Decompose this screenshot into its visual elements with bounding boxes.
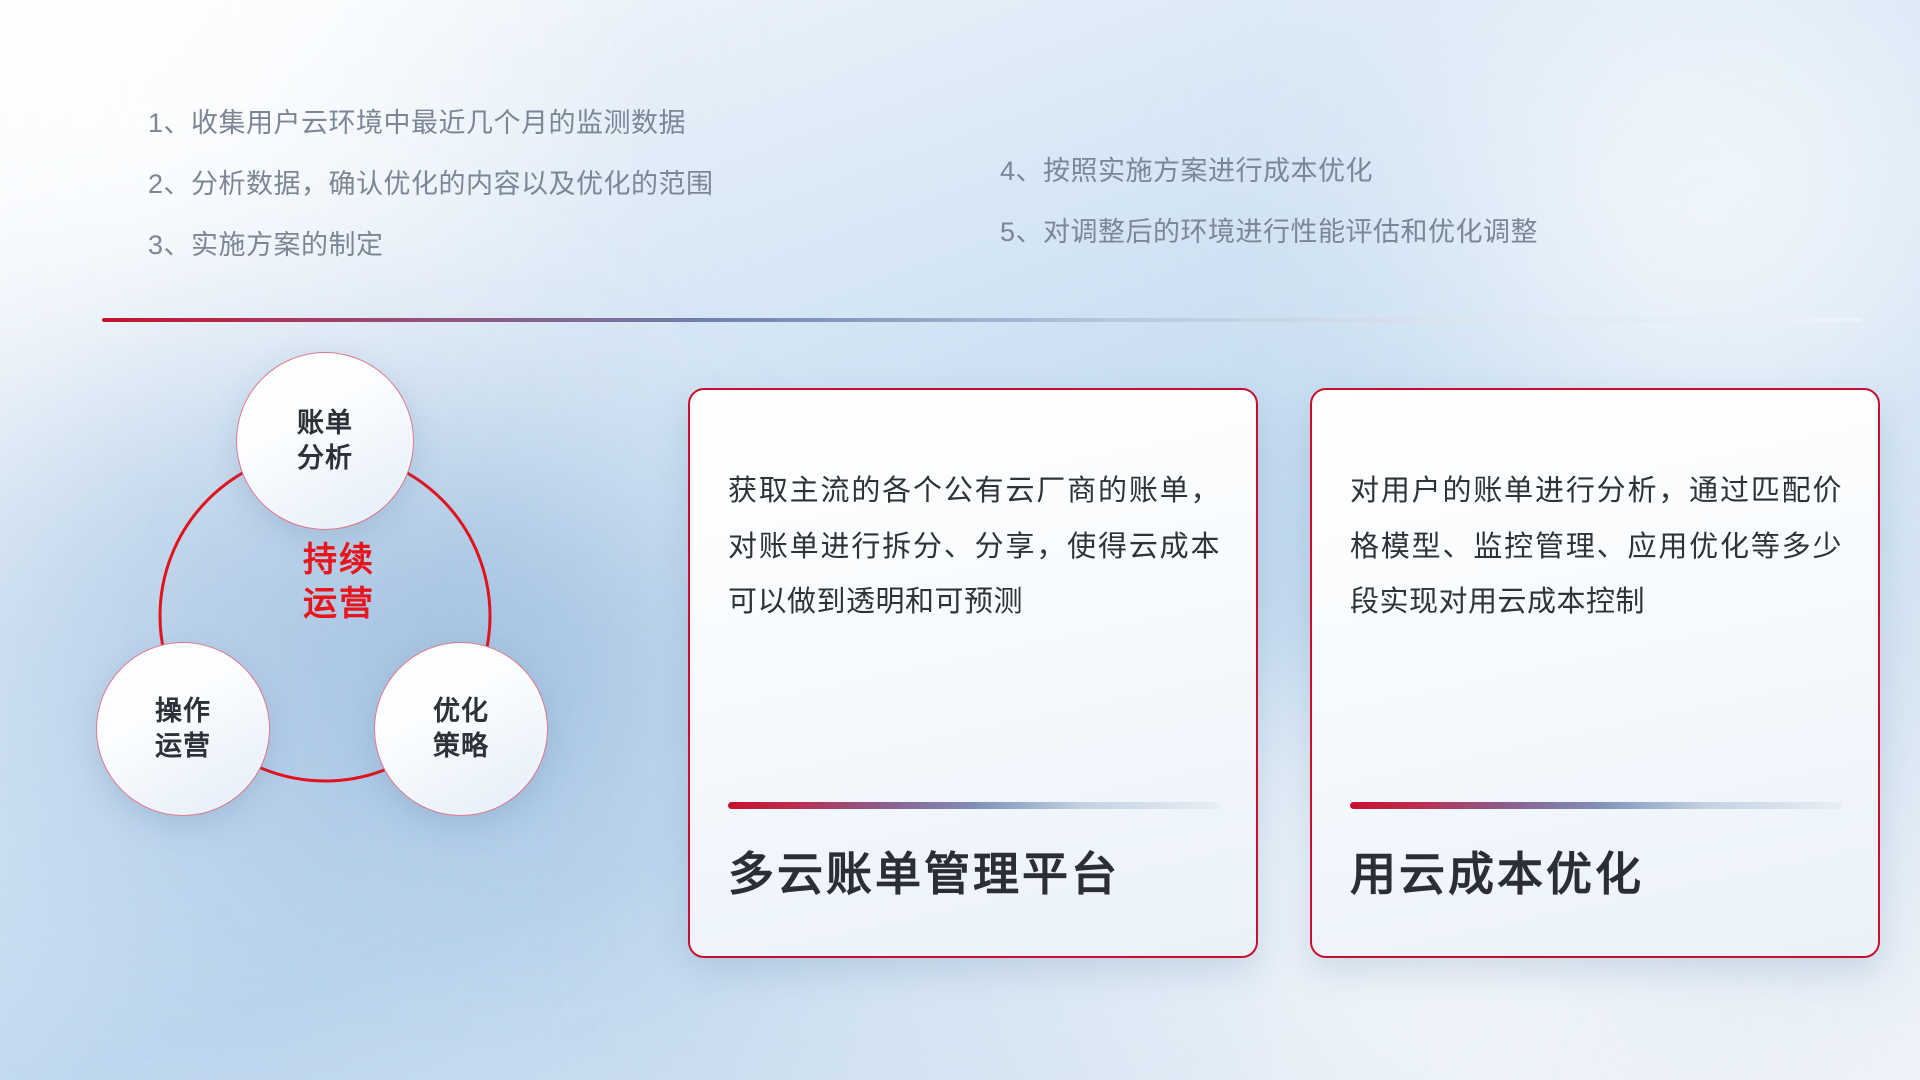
bubble-label-line: 优化	[433, 694, 489, 729]
step-item: 4、按照实施方案进行成本优化	[1000, 158, 1538, 185]
step-item: 1、收集用户云环境中最近几个月的监测数据	[148, 110, 714, 137]
diagram-center-label: 持续 运营	[254, 538, 424, 626]
card-body-text: 对用户的账单进行分析，通过匹配价格模型、监控管理、应用优化等多少段实现对用云成本…	[1350, 464, 1842, 631]
card-divider	[728, 802, 1220, 809]
card-divider	[1350, 802, 1842, 809]
center-label-line: 持续	[254, 538, 424, 582]
diagram-bubble-operations[interactable]: 操作 运营	[96, 642, 270, 816]
bubble-label-line: 分析	[297, 441, 353, 476]
card-title: 多云账单管理平台	[728, 849, 1220, 900]
diagram-bubble-bill-analysis[interactable]: 账单 分析	[236, 352, 414, 530]
step-item: 2、分析数据，确认优化的内容以及优化的范围	[148, 171, 714, 198]
step-item: 3、实施方案的制定	[148, 232, 714, 259]
center-label-line: 运营	[254, 582, 424, 626]
steps-left-column: 1、收集用户云环境中最近几个月的监测数据 2、分析数据，确认优化的内容以及优化的…	[148, 110, 714, 293]
card-cloud-cost-optimization[interactable]: 对用户的账单进行分析，通过匹配价格模型、监控管理、应用优化等多少段实现对用云成本…	[1310, 388, 1880, 958]
bubble-label-line: 运营	[155, 729, 211, 764]
bubble-label-line: 账单	[297, 406, 353, 441]
card-body-text: 获取主流的各个公有云厂商的账单，对账单进行拆分、分享，使得云成本可以做到透明和可…	[728, 464, 1220, 631]
bubble-label-line: 策略	[433, 729, 489, 764]
card-multi-cloud-billing-platform[interactable]: 获取主流的各个公有云厂商的账单，对账单进行拆分、分享，使得云成本可以做到透明和可…	[688, 388, 1258, 958]
step-item: 5、对调整后的环境进行性能评估和优化调整	[1000, 219, 1538, 246]
steps-divider	[102, 318, 1862, 322]
bubble-label-line: 操作	[155, 694, 211, 729]
continuous-operation-diagram: 账单 分析 操作 运营 优化 策略 持续 运营	[96, 352, 656, 932]
card-title: 用云成本优化	[1350, 849, 1842, 900]
steps-right-column: 4、按照实施方案进行成本优化 5、对调整后的环境进行性能评估和优化调整	[1000, 158, 1538, 280]
diagram-bubble-optimize-strategy[interactable]: 优化 策略	[374, 642, 548, 816]
